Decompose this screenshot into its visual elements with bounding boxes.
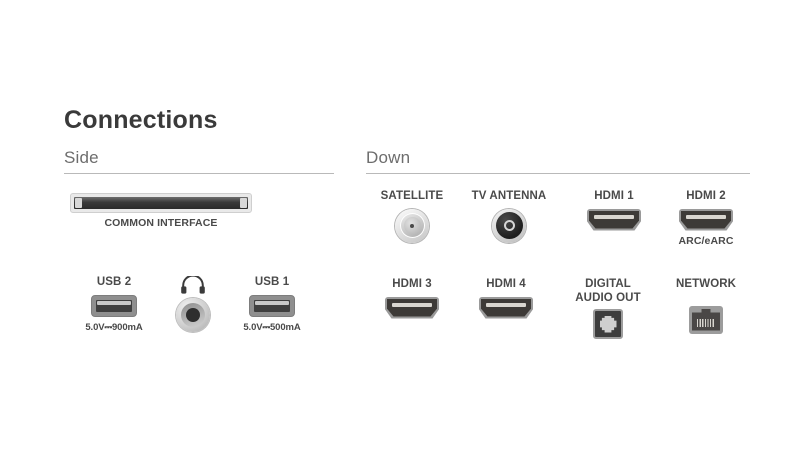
connections-diagram: Connections Side COMMON INTERFACE USB 2 … — [0, 0, 800, 472]
satellite-f-connector-icon — [366, 209, 458, 243]
port-usb-2[interactable]: USB 2 5.0V⎓900mA — [64, 276, 164, 334]
port-label-hdmi-4: HDMI 4 — [460, 278, 552, 292]
port-rating-usb-1: 5.0V⎓500mA — [222, 321, 322, 335]
port-label-common-interface: COMMON INTERFACE — [68, 217, 254, 231]
hdmi-icon — [568, 209, 660, 231]
port-usb-1[interactable]: USB 1 5.0V⎓500mA — [222, 276, 322, 334]
section-down: Down — [366, 148, 750, 174]
port-label-digital-audio-out-line1: DIGITAL — [558, 278, 658, 292]
port-network[interactable]: NETWORK — [660, 278, 752, 334]
usb-a-icon — [64, 295, 164, 317]
hdmi-icon — [460, 297, 552, 319]
page-title: Connections — [64, 106, 218, 135]
headphone-icon — [180, 276, 206, 294]
port-label-hdmi-1: HDMI 1 — [568, 190, 660, 204]
section-divider-side — [64, 173, 334, 174]
tv-antenna-icon — [460, 209, 558, 243]
port-digital-audio-out[interactable]: DIGITAL AUDIO OUT — [558, 278, 658, 339]
port-rating-usb-2: 5.0V⎓900mA — [64, 321, 164, 335]
section-heading-down: Down — [366, 148, 750, 173]
port-label-hdmi-2: HDMI 2 — [660, 190, 752, 204]
port-tv-antenna[interactable]: TV ANTENNA — [460, 190, 558, 243]
port-label-usb-1: USB 1 — [222, 276, 322, 290]
port-label-network: NETWORK — [660, 278, 752, 292]
optical-icon — [558, 309, 658, 339]
rj45-icon — [660, 306, 752, 334]
port-label-digital-audio-out-line2: AUDIO OUT — [558, 292, 658, 306]
port-hdmi-4[interactable]: HDMI 4 — [460, 278, 552, 319]
port-sublabel-hdmi-2: ARC/eARC — [660, 235, 752, 249]
port-satellite[interactable]: SATELLITE — [366, 190, 458, 243]
hdmi-icon — [660, 209, 752, 231]
section-divider-down — [366, 173, 750, 174]
port-hdmi-1[interactable]: HDMI 1 — [568, 190, 660, 231]
port-common-interface[interactable]: COMMON INTERFACE — [68, 193, 254, 231]
usb-a-icon — [222, 295, 322, 317]
ci-slot-icon — [68, 193, 254, 213]
hdmi-icon — [366, 297, 458, 319]
section-side: Side — [64, 148, 334, 174]
port-label-satellite: SATELLITE — [366, 190, 458, 204]
port-headphone[interactable] — [168, 276, 218, 332]
section-heading-side: Side — [64, 148, 334, 173]
headphone-jack-icon — [168, 298, 218, 332]
port-hdmi-3[interactable]: HDMI 3 — [366, 278, 458, 319]
port-hdmi-2[interactable]: HDMI 2 ARC/eARC — [660, 190, 752, 248]
port-label-hdmi-3: HDMI 3 — [366, 278, 458, 292]
port-label-usb-2: USB 2 — [64, 276, 164, 290]
port-label-tv-antenna: TV ANTENNA — [460, 190, 558, 204]
